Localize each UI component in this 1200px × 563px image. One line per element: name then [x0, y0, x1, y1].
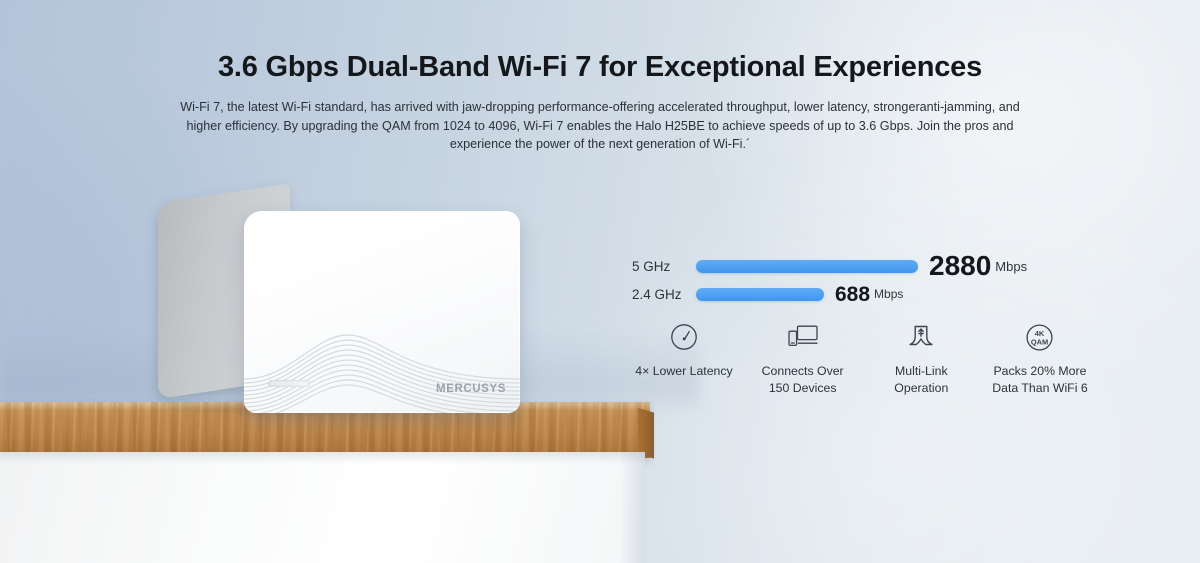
feature-low-latency: 4× Lower Latency	[628, 320, 740, 380]
speed-chart: 5 GHz 2880 Mbps 2.4 GHz 688 Mbps	[632, 252, 1052, 308]
wood-shelf-edge	[638, 408, 654, 459]
router-front-panel: MERCUSYS	[244, 211, 520, 413]
feature-label-multi-link: Multi-Link Operation	[865, 363, 977, 397]
bar-track-5ghz	[696, 260, 918, 273]
speed-value-24ghz: 688	[835, 284, 870, 305]
router-wave-pattern	[244, 317, 520, 413]
feature-list: 4× Lower Latency Connects Over 150 Devic…	[628, 320, 1096, 397]
qam-badge-bottom: QAM	[1031, 337, 1048, 346]
speed-row-24ghz: 2.4 GHz 688 Mbps	[632, 280, 1052, 308]
band-label-5ghz: 5 GHz	[632, 259, 696, 274]
hero-paragraph: Wi-Fi 7, the latest Wi-Fi standard, has …	[177, 98, 1023, 154]
multi-link-icon	[865, 320, 977, 354]
router-led-indicator	[268, 380, 310, 387]
bar-fill-24ghz	[696, 288, 824, 301]
router-product-image: MERCUSYS	[158, 197, 520, 413]
speed-unit-5ghz: Mbps	[995, 259, 1027, 274]
bar-fill-5ghz	[696, 260, 918, 273]
feature-label-4k-qam: Packs 20% More Data Than WiFi 6	[984, 363, 1096, 397]
feature-device-count: Connects Over 150 Devices	[747, 320, 859, 397]
feature-label-low-latency: 4× Lower Latency	[628, 363, 740, 380]
speed-row-5ghz: 5 GHz 2880 Mbps	[632, 252, 1052, 280]
speedometer-icon	[628, 320, 740, 354]
feature-multi-link: Multi-Link Operation	[865, 320, 977, 397]
band-label-24ghz: 2.4 GHz	[632, 287, 696, 302]
mercusys-logo: MERCUSYS	[436, 383, 506, 395]
white-cabinet	[0, 452, 645, 563]
bar-track-24ghz	[696, 288, 824, 301]
cabinet-top-shadow	[0, 452, 645, 464]
devices-icon	[747, 320, 859, 354]
hero-banner: 3.6 Gbps Dual-Band Wi-Fi 7 for Exception…	[0, 0, 1200, 563]
speed-value-5ghz: 2880	[929, 252, 991, 280]
page-title: 3.6 Gbps Dual-Band Wi-Fi 7 for Exception…	[0, 50, 1200, 85]
speed-unit-24ghz: Mbps	[874, 287, 903, 301]
feature-4k-qam: 4K QAM Packs 20% More Data Than WiFi 6	[984, 320, 1096, 397]
feature-label-device-count: Connects Over 150 Devices	[747, 363, 859, 397]
4k-qam-icon: 4K QAM	[984, 320, 1096, 354]
